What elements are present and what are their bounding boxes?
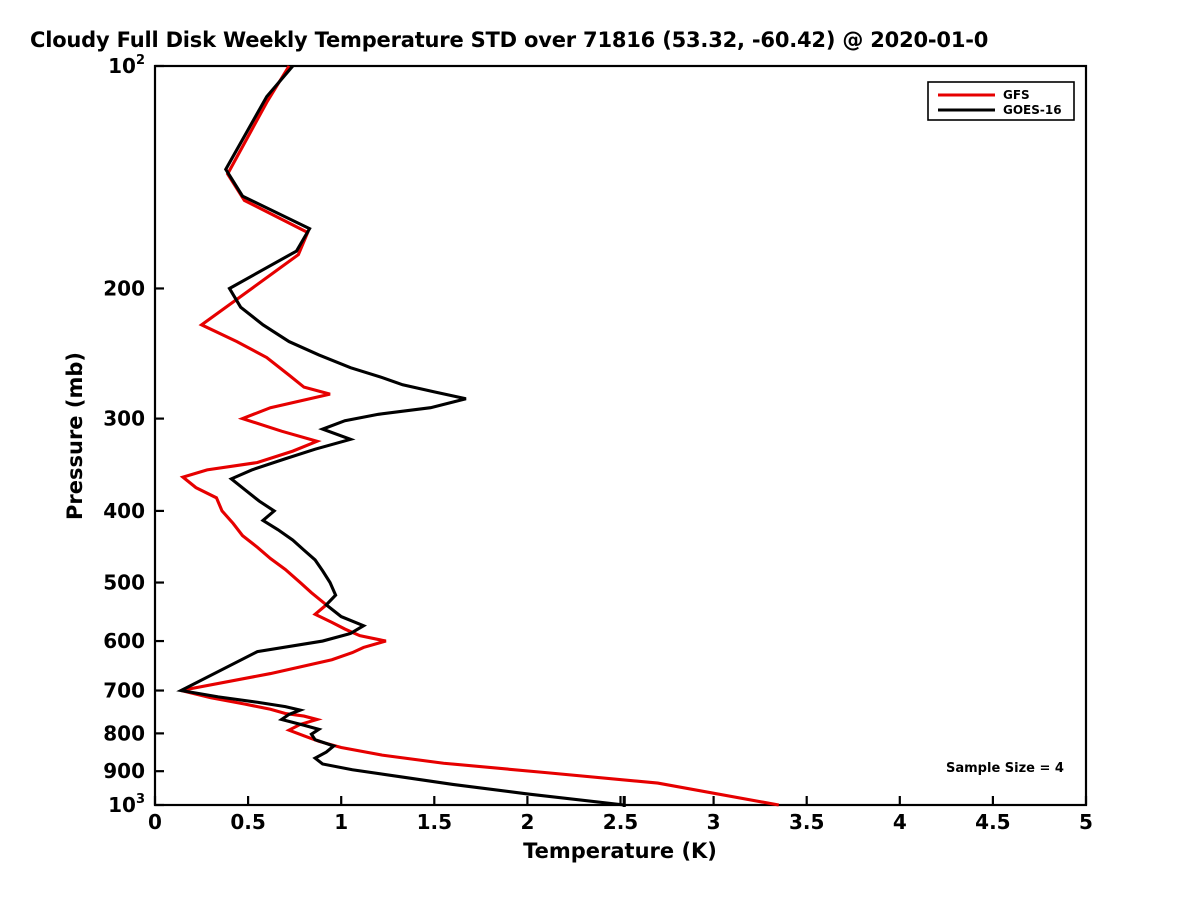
x-tick-label: 0 (148, 810, 162, 834)
series-line-gfs (181, 66, 779, 805)
x-tick-label: 0.5 (230, 810, 265, 834)
y-tick-label: 800 (103, 721, 145, 745)
series-lines (181, 66, 779, 807)
x-axis-title: Temperature (K) (523, 839, 717, 863)
temperature-pressure-plot: 00.511.522.533.544.55 102200300400500600… (0, 0, 1200, 900)
x-tick-label: 3 (707, 810, 721, 834)
x-tick-label: 2.5 (603, 810, 638, 834)
x-tick-label: 3.5 (789, 810, 824, 834)
y-tick-label: 900 (103, 759, 145, 783)
sample-size-annotation: Sample Size = 4 (946, 761, 1064, 776)
y-tick-label: 102 (108, 53, 145, 78)
x-axis-ticks: 00.511.522.533.544.55 (148, 796, 1093, 834)
chart-figure: Cloudy Full Disk Weekly Temperature STD … (0, 0, 1200, 900)
legend-label-goes16: GOES-16 (1003, 103, 1062, 117)
y-tick-label: 500 (103, 571, 145, 595)
y-axis-title: Pressure (mb) (63, 352, 87, 520)
y-tick-label: 200 (103, 276, 145, 300)
x-tick-label: 1 (334, 810, 348, 834)
y-tick-label: 103 (108, 792, 145, 817)
x-tick-label: 5 (1079, 810, 1093, 834)
y-tick-label: 300 (103, 407, 145, 431)
y-tick-label: 400 (103, 499, 145, 523)
y-tick-label: 600 (103, 629, 145, 653)
y-tick-label: 700 (103, 679, 145, 703)
chart-legend[interactable]: GFS GOES-16 (928, 82, 1074, 120)
x-tick-label: 4.5 (975, 810, 1010, 834)
x-tick-label: 4 (893, 810, 907, 834)
series-line-goes-16 (181, 66, 624, 805)
x-tick-label: 2 (520, 810, 534, 834)
legend-label-gfs: GFS (1003, 88, 1030, 102)
x-tick-label: 1.5 (417, 810, 452, 834)
